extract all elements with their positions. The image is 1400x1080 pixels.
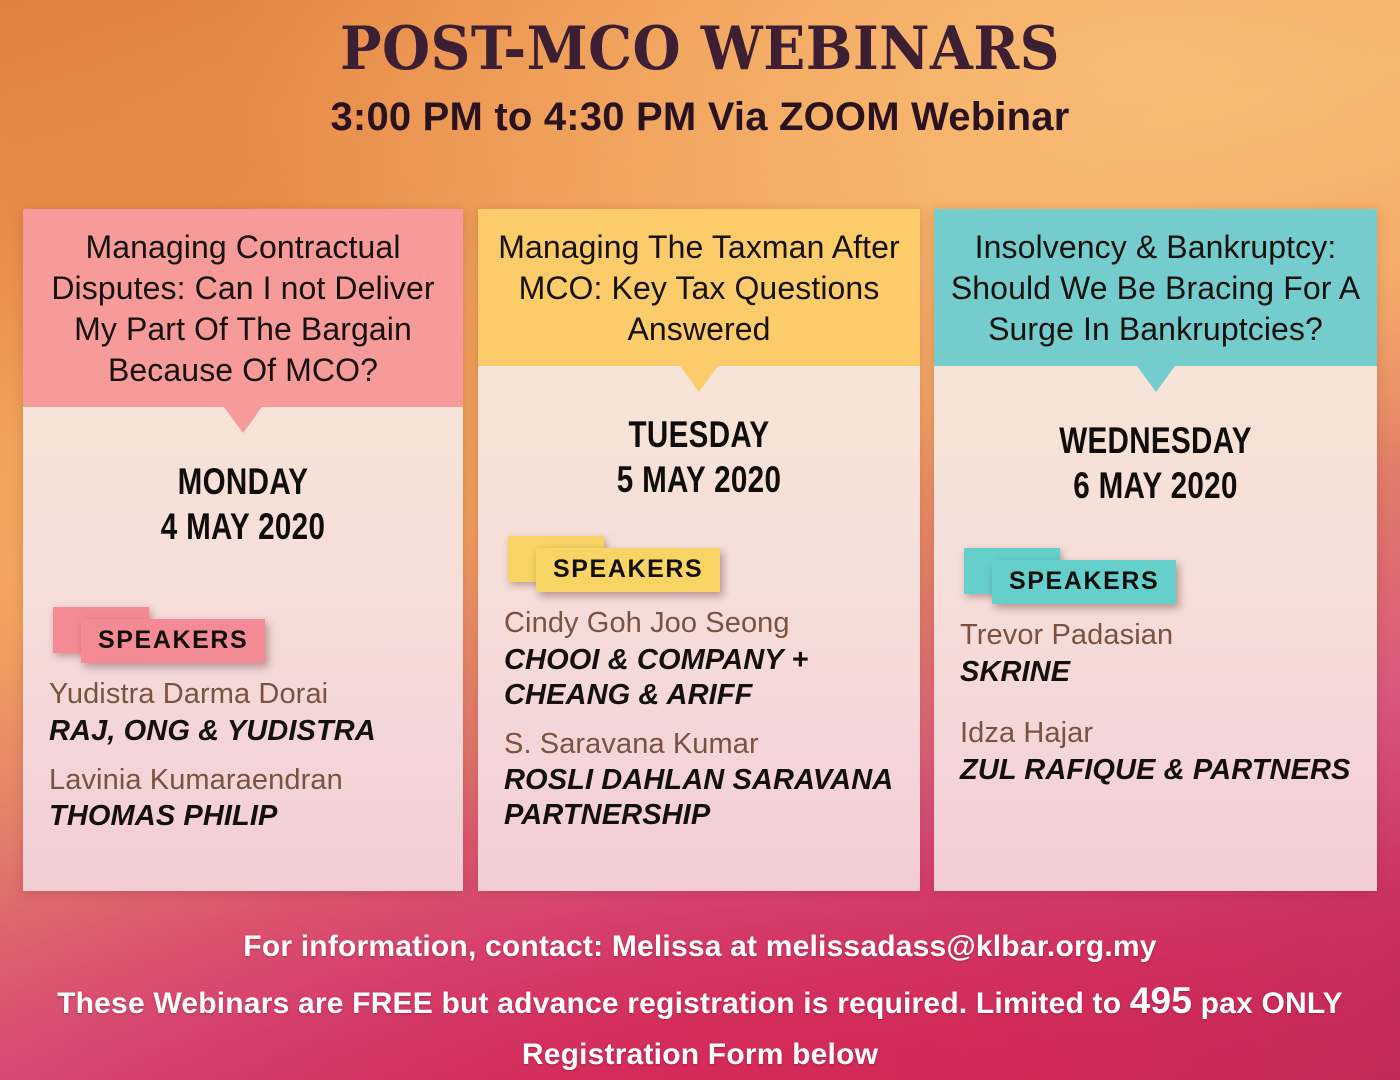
speaker-entry: Cindy Goh Joo Seong CHOOI & COMPANY + CH… <box>504 606 894 712</box>
registration-note-prefix: These Webinars are FREE but advance regi… <box>57 987 1130 1020</box>
speakers-list: Cindy Goh Joo Seong CHOOI & COMPANY + CH… <box>478 606 920 833</box>
speaker-firm: CHOOI & COMPANY + CHEANG & ARIFF <box>504 643 894 713</box>
webinar-date-block: TUESDAY 5 MAY 2020 <box>522 412 876 502</box>
webinar-date: 6 MAY 2020 <box>978 463 1332 508</box>
speaker-name: Cindy Goh Joo Seong <box>504 606 894 641</box>
speaker-name: Idza Hajar <box>960 716 1351 751</box>
speaker-entry: Trevor Padasian SKRINE <box>960 618 1351 690</box>
speaker-name: Trevor Padasian <box>960 618 1351 653</box>
poster-header: POST-MCO WEBINARS 3:00 PM to 4:30 PM Via… <box>0 18 1400 140</box>
speaker-entry: Lavinia Kumaraendran THOMAS PHILIP <box>49 763 437 835</box>
card-header-wednesday: Insolvency & Bankruptcy: Should We Be Br… <box>934 209 1377 366</box>
webinar-day: MONDAY <box>67 459 419 504</box>
speakers-badge-label: SPEAKERS <box>81 619 265 663</box>
card-header-tuesday: Managing The Taxman After MCO: Key Tax Q… <box>478 209 920 366</box>
speaker-entry: Idza Hajar ZUL RAFIQUE & PARTNERS <box>960 716 1351 788</box>
speakers-list: Yudistra Darma Dorai RAJ, ONG & YUDISTRA… <box>23 677 463 834</box>
speakers-badge: SPEAKERS <box>508 536 920 592</box>
webinar-date: 5 MAY 2020 <box>522 457 876 502</box>
speaker-firm: ROSLI DAHLAN SARAVANA PARTNERSHIP <box>504 763 894 833</box>
poster-footer: For information, contact: Melissa at mel… <box>0 930 1400 1072</box>
speakers-badge-label: SPEAKERS <box>536 548 720 592</box>
webinar-date-block: MONDAY 4 MAY 2020 <box>67 459 419 549</box>
registration-form-line: Registration Form below <box>0 1038 1400 1072</box>
triangle-pointer-icon <box>1137 366 1175 392</box>
card-header-monday: Managing Contractual Disputes: Can I not… <box>23 209 463 407</box>
registration-note-suffix: pax ONLY <box>1192 987 1343 1020</box>
speakers-badge-label: SPEAKERS <box>992 560 1176 604</box>
speaker-firm: SKRINE <box>960 655 1351 690</box>
speaker-firm: RAJ, ONG & YUDISTRA <box>49 714 437 749</box>
webinar-card-list: Managing Contractual Disputes: Can I not… <box>0 209 1400 891</box>
speaker-name: Lavinia Kumaraendran <box>49 763 437 798</box>
speaker-name: Yudistra Darma Dorai <box>49 677 437 712</box>
speakers-badge: SPEAKERS <box>53 607 463 663</box>
webinar-card-tuesday: Managing The Taxman After MCO: Key Tax Q… <box>478 209 920 891</box>
triangle-pointer-icon <box>680 366 718 392</box>
registration-note: These Webinars are FREE but advance regi… <box>0 980 1400 1022</box>
webinar-day: WEDNESDAY <box>978 418 1332 463</box>
webinar-poster: POST-MCO WEBINARS 3:00 PM to 4:30 PM Via… <box>0 0 1400 1080</box>
webinar-card-wednesday: Insolvency & Bankruptcy: Should We Be Br… <box>934 209 1377 891</box>
speaker-entry: Yudistra Darma Dorai RAJ, ONG & YUDISTRA <box>49 677 437 749</box>
speaker-firm: THOMAS PHILIP <box>49 799 437 834</box>
speakers-badge: SPEAKERS <box>964 548 1377 604</box>
webinar-date: 4 MAY 2020 <box>67 504 419 549</box>
page-title: POST-MCO WEBINARS <box>56 18 1344 81</box>
webinar-card-monday: Managing Contractual Disputes: Can I not… <box>23 209 463 891</box>
page-subtitle: 3:00 PM to 4:30 PM Via ZOOM Webinar <box>0 95 1400 140</box>
contact-line: For information, contact: Melissa at mel… <box>0 930 1400 964</box>
webinar-topic: Insolvency & Bankruptcy: Should We Be Br… <box>948 227 1363 350</box>
pax-limit: 495 <box>1130 980 1192 1021</box>
speakers-list: Trevor Padasian SKRINE Idza Hajar ZUL RA… <box>934 618 1377 787</box>
webinar-topic: Managing The Taxman After MCO: Key Tax Q… <box>492 227 906 350</box>
webinar-date-block: WEDNESDAY 6 MAY 2020 <box>978 418 1332 508</box>
speaker-entry: S. Saravana Kumar ROSLI DAHLAN SARAVANA … <box>504 727 894 833</box>
webinar-topic: Managing Contractual Disputes: Can I not… <box>37 227 449 391</box>
speaker-name: S. Saravana Kumar <box>504 727 894 762</box>
speaker-firm: ZUL RAFIQUE & PARTNERS <box>960 753 1351 788</box>
triangle-pointer-icon <box>224 407 262 433</box>
webinar-day: TUESDAY <box>522 412 876 457</box>
